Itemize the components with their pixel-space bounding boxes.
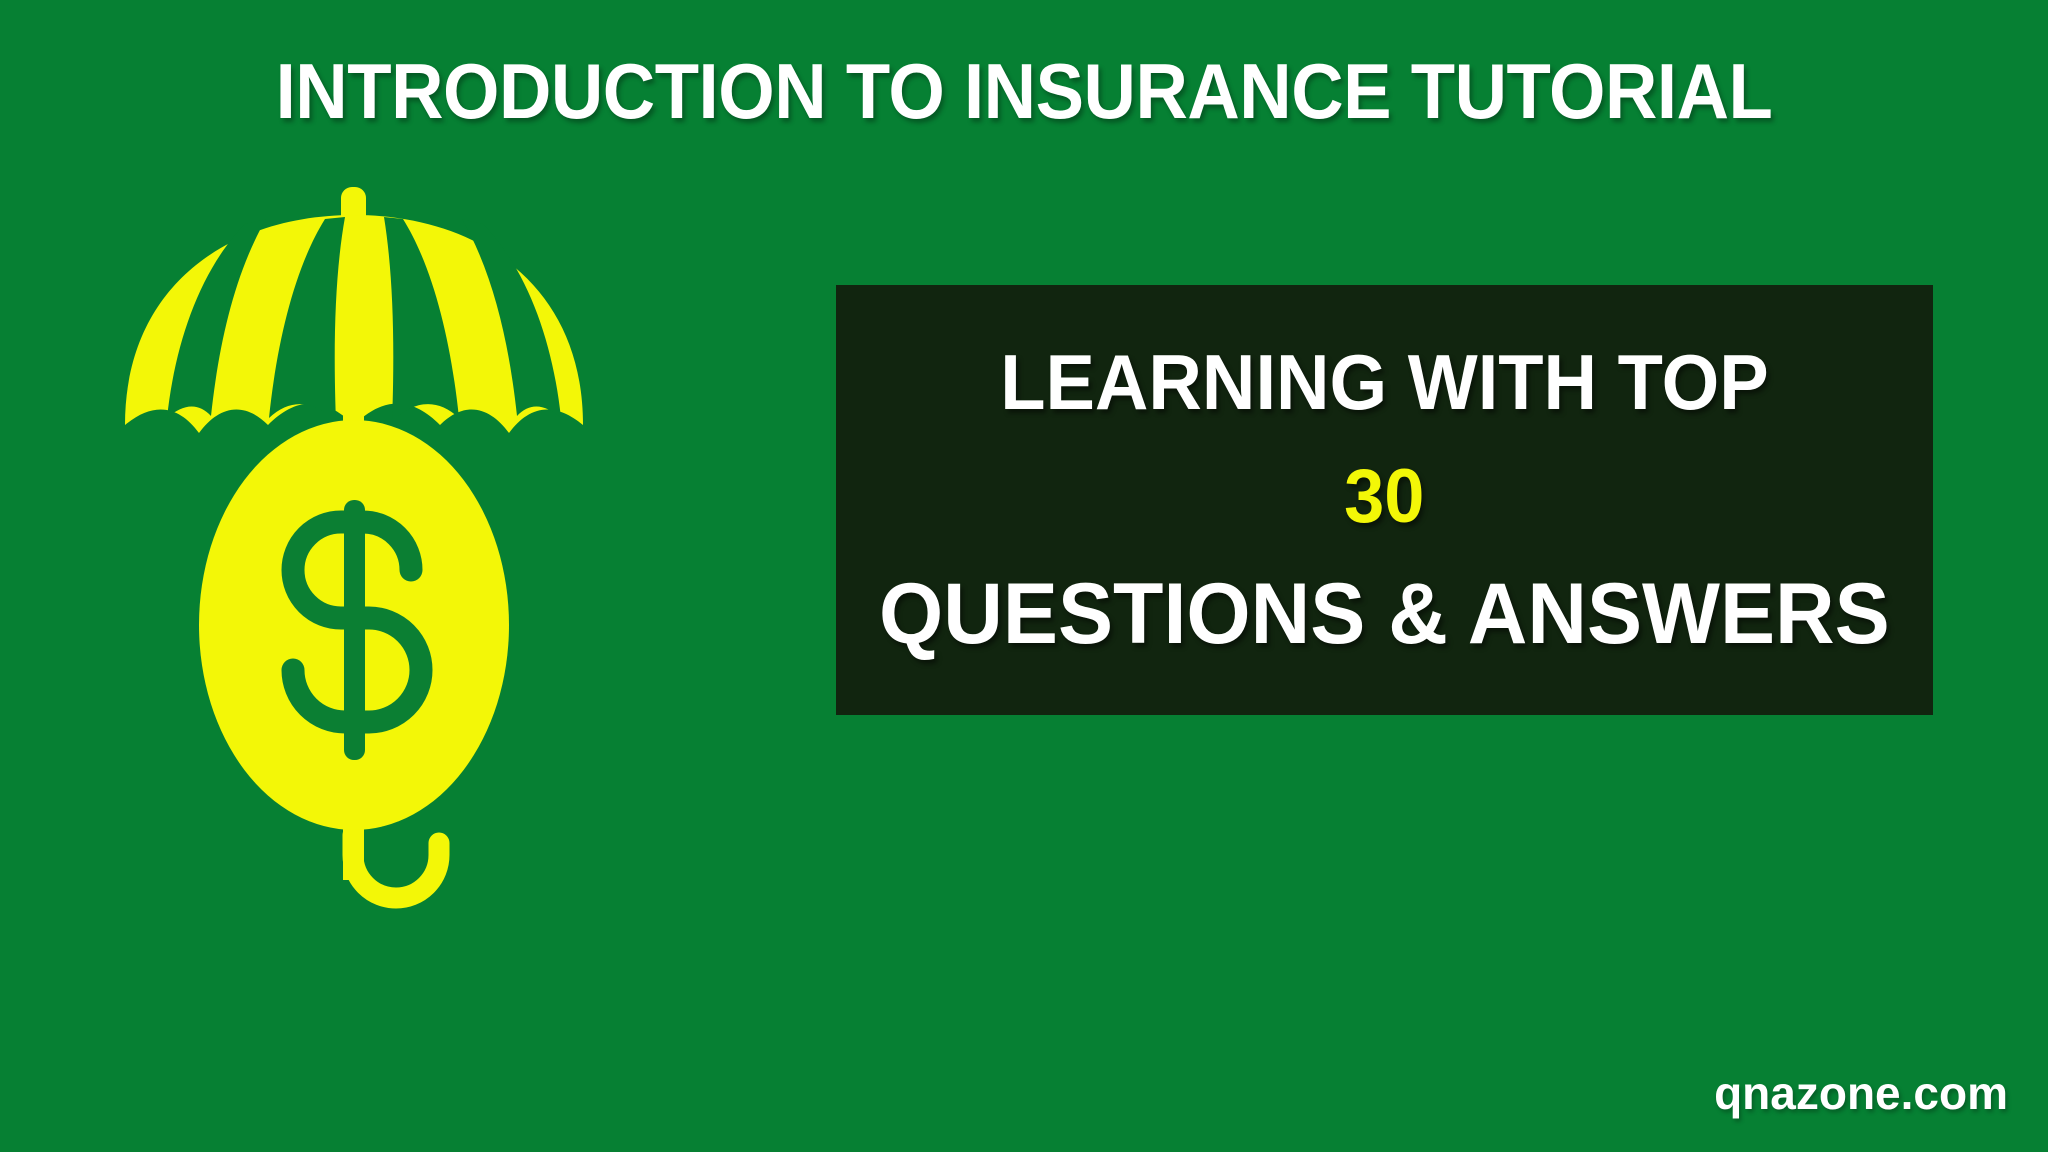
- site-watermark: qnazone.com: [1714, 1070, 2008, 1116]
- umbrella-handle-hook: [353, 835, 439, 898]
- callout-panel: LEARNING WITH TOP 30 QUESTIONS & ANSWERS: [836, 285, 1933, 715]
- callout-line-2: QUESTIONS & ANSWERS: [879, 571, 1890, 657]
- page-title: INTRODUCTION TO INSURANCE TUTORIAL: [72, 52, 1977, 130]
- umbrella-with-dollar-coin-icon: [95, 175, 625, 915]
- callout-count-badge: 30: [1344, 459, 1424, 535]
- poster-canvas: INTRODUCTION TO INSURANCE TUTORIAL: [0, 0, 2048, 1152]
- callout-line-1: LEARNING WITH TOP: [1000, 343, 1768, 421]
